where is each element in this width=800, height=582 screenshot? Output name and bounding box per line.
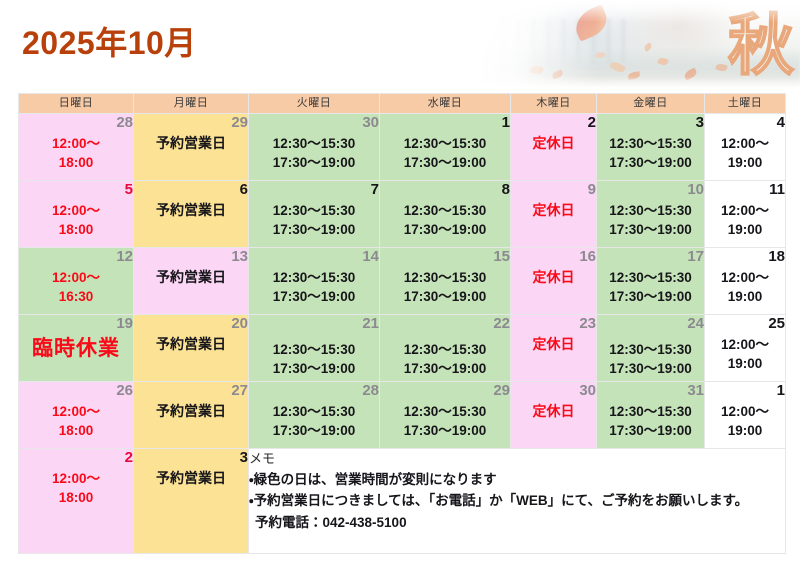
day-number: 6 (134, 181, 248, 199)
day-time-range: 18:00 (19, 220, 133, 239)
calendar-day-cell[interactable]: 13予約営業日 (134, 248, 249, 315)
calendar-day-cell[interactable]: 2212:30〜15:3017:30〜19:00 (380, 315, 511, 382)
day-number: 7 (249, 181, 379, 199)
day-hours: 12:30〜15:3017:30〜19:00 (597, 340, 704, 378)
calendar-week-row: 19臨時休業20予約営業日2112:30〜15:3017:30〜19:00221… (19, 315, 786, 382)
day-hours: 予約営業日 (134, 335, 248, 353)
day-hours: 12:30〜15:3017:30〜19:00 (380, 340, 510, 378)
day-status-label: 予約営業日 (134, 402, 248, 420)
calendar-week-row: 1212:00〜16:3013予約営業日1412:30〜15:3017:30〜1… (19, 248, 786, 315)
day-hours: 12:30〜15:3017:30〜19:00 (380, 268, 510, 306)
day-hours: 12:30〜15:3017:30〜19:00 (597, 402, 704, 440)
day-hours: 12:30〜15:3017:30〜19:00 (380, 402, 510, 440)
calendar-day-cell[interactable]: 1112:00〜19:00 (705, 181, 786, 248)
day-hours: 12:30〜15:3017:30〜19:00 (380, 134, 510, 172)
day-hours: 12:00〜18:00 (19, 469, 133, 507)
day-number: 11 (705, 181, 785, 199)
memo-note-reservation: ・予約営業日につきましては、「お電話」か「WEB」にて、ご予約をお願いします。 (249, 490, 785, 512)
calendar-day-cell[interactable]: 6予約営業日 (134, 181, 249, 248)
calendar-day-cell[interactable]: 2112:30〜15:3017:30〜19:00 (249, 315, 380, 382)
day-hours: 定休日 (511, 134, 596, 152)
day-number: 26 (19, 382, 133, 400)
day-hours: 定休日 (511, 402, 596, 420)
day-time-range: 17:30〜19:00 (597, 359, 704, 378)
day-time-range: 19:00 (705, 354, 785, 373)
day-number: 2 (511, 114, 596, 132)
day-header-thursday: 木曜日 (511, 94, 597, 114)
day-status-label: 定休日 (511, 134, 596, 152)
day-hours: 12:30〜15:3017:30〜19:00 (249, 402, 379, 440)
calendar-day-cell[interactable]: 1512:30〜15:3017:30〜19:00 (380, 248, 511, 315)
day-time-range: 17:30〜19:00 (249, 153, 379, 172)
day-status-label: 予約営業日 (134, 335, 248, 353)
day-time-range: 12:30〜15:30 (597, 201, 704, 220)
day-hours: 12:30〜15:3017:30〜19:00 (249, 340, 379, 378)
day-hours: 12:00〜18:00 (19, 402, 133, 440)
day-number: 25 (705, 315, 785, 333)
day-number: 9 (511, 181, 596, 199)
day-hours: 臨時休業 (19, 335, 133, 362)
day-time-range: 12:30〜15:30 (249, 340, 379, 359)
day-status-label: 定休日 (511, 268, 596, 286)
day-number: 22 (380, 315, 510, 333)
day-time-range: 12:30〜15:30 (249, 402, 379, 421)
day-time-range: 12:30〜15:30 (249, 134, 379, 153)
calendar-day-cell[interactable]: 2812:00〜18:00 (19, 114, 134, 181)
memo-note-green: ・緑色の日は、営業時間が変則になります (249, 469, 785, 491)
day-hours: 予約営業日 (134, 469, 248, 487)
day-time-range: 17:30〜19:00 (380, 220, 510, 239)
day-time-range: 17:30〜19:00 (249, 287, 379, 306)
day-number: 17 (597, 248, 704, 266)
day-number: 30 (511, 382, 596, 400)
calendar-day-cell[interactable]: 3予約営業日 (134, 449, 249, 554)
calendar-header-row: 日曜日 月曜日 火曜日 水曜日 木曜日 金曜日 土曜日 (19, 94, 786, 114)
day-time-range: 12:00〜 (19, 469, 133, 488)
day-number: 18 (705, 248, 785, 266)
day-time-range: 12:30〜15:30 (597, 402, 704, 421)
day-number: 3 (134, 449, 248, 467)
day-hours: 12:00〜19:00 (705, 268, 785, 306)
day-number: 19 (19, 315, 133, 333)
day-number: 31 (597, 382, 704, 400)
day-status-label: 予約営業日 (134, 201, 248, 219)
day-time-range: 17:30〜19:00 (380, 287, 510, 306)
day-time-range: 17:30〜19:00 (249, 359, 379, 378)
day-time-range: 17:30〜19:00 (597, 220, 704, 239)
day-number: 8 (380, 181, 510, 199)
day-hours: 12:30〜15:3017:30〜19:00 (249, 268, 379, 306)
day-time-range: 17:30〜19:00 (597, 153, 704, 172)
day-time-range: 17:30〜19:00 (597, 287, 704, 306)
calendar-day-cell[interactable]: 16定休日 (511, 248, 597, 315)
calendar-day-cell[interactable]: 1012:30〜15:3017:30〜19:00 (597, 181, 705, 248)
day-number: 16 (511, 248, 596, 266)
day-number: 1 (705, 382, 785, 400)
day-time-range: 12:30〜15:30 (380, 268, 510, 287)
day-hours: 12:30〜15:3017:30〜19:00 (249, 134, 379, 172)
day-time-range: 18:00 (19, 488, 133, 507)
day-time-range: 12:00〜 (705, 335, 785, 354)
day-time-range: 12:30〜15:30 (380, 201, 510, 220)
day-number: 14 (249, 248, 379, 266)
day-number: 21 (249, 315, 379, 333)
day-status-label: 定休日 (511, 402, 596, 420)
day-time-range: 19:00 (705, 421, 785, 440)
day-time-range: 12:30〜15:30 (249, 268, 379, 287)
day-time-range: 12:30〜15:30 (380, 402, 510, 421)
day-status-label: 臨時休業 (19, 335, 133, 362)
calendar-day-cell[interactable]: 1212:00〜16:30 (19, 248, 134, 315)
calendar-week-row: 512:00〜18:006予約営業日712:30〜15:3017:30〜19:0… (19, 181, 786, 248)
calendar-body: 2812:00〜18:0029予約営業日3012:30〜15:3017:30〜1… (19, 114, 786, 554)
day-number: 20 (134, 315, 248, 333)
autumn-banner: 秋 (478, 0, 800, 92)
day-hours: 12:30〜15:3017:30〜19:00 (380, 201, 510, 239)
banner-fade-top (478, 0, 800, 22)
day-hours: 12:30〜15:3017:30〜19:00 (249, 201, 379, 239)
calendar-day-cell[interactable]: 112:30〜15:3017:30〜19:00 (380, 114, 511, 181)
memo-reservation-phone: 予約電話：042-438-5100 (249, 512, 785, 534)
calendar-week-row: 2812:00〜18:0029予約営業日3012:30〜15:3017:30〜1… (19, 114, 786, 181)
day-hours: 予約営業日 (134, 268, 248, 286)
day-status-label: 予約営業日 (134, 469, 248, 487)
day-header-tuesday: 火曜日 (249, 94, 380, 114)
day-time-range: 12:00〜 (19, 268, 133, 287)
day-number: 28 (19, 114, 133, 132)
day-number: 30 (249, 114, 379, 132)
day-time-range: 12:30〜15:30 (249, 201, 379, 220)
calendar-day-cell[interactable]: 19臨時休業 (19, 315, 134, 382)
memo-cell: メモ・緑色の日は、営業時間が変則になります・予約営業日につきましては、「お電話」… (249, 449, 786, 554)
calendar-week-row: 2612:00〜18:0027予約営業日2812:30〜15:3017:30〜1… (19, 382, 786, 449)
day-hours: 定休日 (511, 335, 596, 353)
banner-fade-bottom (478, 76, 800, 92)
day-hours: 定休日 (511, 201, 596, 219)
calendar-day-cell[interactable]: 512:00〜18:00 (19, 181, 134, 248)
day-hours: 12:30〜15:3017:30〜19:00 (597, 268, 704, 306)
calendar-day-cell[interactable]: 27予約営業日 (134, 382, 249, 449)
calendar-day-cell[interactable]: 29予約営業日 (134, 114, 249, 181)
day-time-range: 18:00 (19, 421, 133, 440)
day-number: 10 (597, 181, 704, 199)
calendar-day-cell[interactable]: 9定休日 (511, 181, 597, 248)
day-hours: 12:00〜19:00 (705, 201, 785, 239)
day-time-range: 12:00〜 (19, 134, 133, 153)
day-number: 4 (705, 114, 785, 132)
day-number: 23 (511, 315, 596, 333)
day-time-range: 12:00〜 (705, 134, 785, 153)
day-number: 29 (134, 114, 248, 132)
calendar-day-cell[interactable]: 812:30〜15:3017:30〜19:00 (380, 181, 511, 248)
day-time-range: 12:00〜 (705, 201, 785, 220)
calendar-day-cell[interactable]: 412:00〜19:00 (705, 114, 786, 181)
calendar-day-cell[interactable]: 3112:30〜15:3017:30〜19:00 (597, 382, 705, 449)
day-hours: 12:00〜16:30 (19, 268, 133, 306)
day-number: 29 (380, 382, 510, 400)
day-number: 28 (249, 382, 379, 400)
day-time-range: 12:30〜15:30 (597, 340, 704, 359)
day-time-range: 17:30〜19:00 (380, 359, 510, 378)
day-hours: 定休日 (511, 268, 596, 286)
day-hours: 12:00〜18:00 (19, 201, 133, 239)
calendar-day-cell[interactable]: 312:30〜15:3017:30〜19:00 (597, 114, 705, 181)
day-time-range: 12:30〜15:30 (597, 268, 704, 287)
day-hours: 12:00〜18:00 (19, 134, 133, 172)
day-number: 13 (134, 248, 248, 266)
page-title: 2025年10月 (22, 27, 197, 59)
day-status-label: 定休日 (511, 335, 596, 353)
day-time-range: 12:00〜 (705, 268, 785, 287)
calendar-day-cell[interactable]: 2定休日 (511, 114, 597, 181)
calendar-day-cell[interactable]: 712:30〜15:3017:30〜19:00 (249, 181, 380, 248)
memo-title: メモ (249, 449, 785, 469)
day-time-range: 12:00〜 (705, 402, 785, 421)
day-number: 3 (597, 114, 704, 132)
day-number: 15 (380, 248, 510, 266)
day-number: 5 (19, 181, 133, 199)
day-number: 1 (380, 114, 510, 132)
calendar-day-cell[interactable]: 2612:00〜18:00 (19, 382, 134, 449)
day-time-range: 16:30 (19, 287, 133, 306)
calendar-day-cell[interactable]: 3012:30〜15:3017:30〜19:00 (249, 114, 380, 181)
day-time-range: 17:30〜19:00 (597, 421, 704, 440)
day-time-range: 17:30〜19:00 (380, 421, 510, 440)
day-time-range: 19:00 (705, 287, 785, 306)
day-hours: 12:00〜19:00 (705, 335, 785, 373)
day-hours: 予約営業日 (134, 134, 248, 152)
day-time-range: 17:30〜19:00 (249, 421, 379, 440)
day-number: 24 (597, 315, 704, 333)
day-header-sunday: 日曜日 (19, 94, 134, 114)
day-header-wednesday: 水曜日 (380, 94, 511, 114)
day-status-label: 定休日 (511, 201, 596, 219)
calendar-day-cell[interactable]: 1412:30〜15:3017:30〜19:00 (249, 248, 380, 315)
day-time-range: 12:30〜15:30 (380, 340, 510, 359)
calendar-day-cell[interactable]: 2812:30〜15:3017:30〜19:00 (249, 382, 380, 449)
day-hours: 12:00〜19:00 (705, 402, 785, 440)
calendar-day-cell[interactable]: 2412:30〜15:3017:30〜19:00 (597, 315, 705, 382)
calendar-day-cell[interactable]: 2512:00〜19:00 (705, 315, 786, 382)
day-hours: 予約営業日 (134, 201, 248, 219)
calendar-day-cell[interactable]: 1712:30〜15:3017:30〜19:00 (597, 248, 705, 315)
calendar-day-cell[interactable]: 112:00〜19:00 (705, 382, 786, 449)
day-hours: 12:30〜15:3017:30〜19:00 (597, 201, 704, 239)
calendar-day-cell[interactable]: 23定休日 (511, 315, 597, 382)
day-status-label: 予約営業日 (134, 268, 248, 286)
calendar-day-cell[interactable]: 1812:00〜19:00 (705, 248, 786, 315)
day-number: 2 (19, 449, 133, 467)
day-header-monday: 月曜日 (134, 94, 249, 114)
day-header-saturday: 土曜日 (705, 94, 786, 114)
day-header-friday: 金曜日 (597, 94, 705, 114)
day-time-range: 17:30〜19:00 (380, 153, 510, 172)
calendar-day-cell[interactable]: 2912:30〜15:3017:30〜19:00 (380, 382, 511, 449)
day-time-range: 12:00〜 (19, 402, 133, 421)
calendar-day-cell[interactable]: 30定休日 (511, 382, 597, 449)
day-time-range: 19:00 (705, 220, 785, 239)
day-time-range: 18:00 (19, 153, 133, 172)
day-time-range: 19:00 (705, 153, 785, 172)
day-status-label: 予約営業日 (134, 134, 248, 152)
day-time-range: 12:00〜 (19, 201, 133, 220)
day-time-range: 17:30〜19:00 (249, 220, 379, 239)
day-hours: 予約営業日 (134, 402, 248, 420)
day-number: 27 (134, 382, 248, 400)
day-time-range: 12:30〜15:30 (597, 134, 704, 153)
day-hours: 12:30〜15:3017:30〜19:00 (597, 134, 704, 172)
day-hours: 12:00〜19:00 (705, 134, 785, 172)
calendar-day-cell[interactable]: 20予約営業日 (134, 315, 249, 382)
calendar-table: 日曜日 月曜日 火曜日 水曜日 木曜日 金曜日 土曜日 2812:00〜18:0… (18, 93, 786, 554)
day-time-range: 12:30〜15:30 (380, 134, 510, 153)
day-number: 12 (19, 248, 133, 266)
calendar-week-row: 212:00〜18:003予約営業日メモ・緑色の日は、営業時間が変則になります・… (19, 449, 786, 554)
calendar-day-cell[interactable]: 212:00〜18:00 (19, 449, 134, 554)
